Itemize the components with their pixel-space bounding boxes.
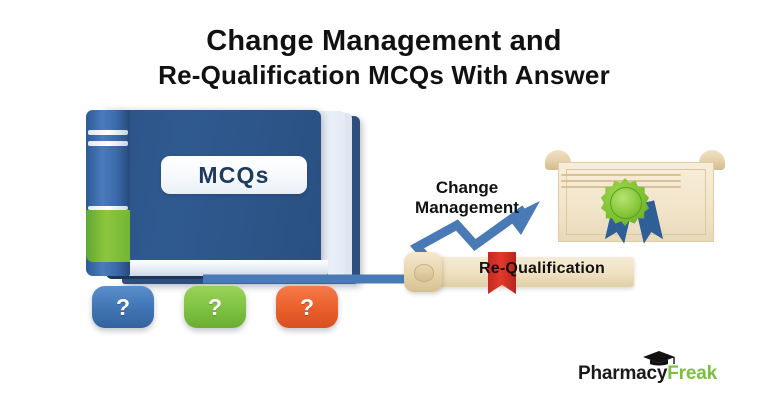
re-qualification-label: Re-Qualification (448, 260, 636, 278)
title-line-1: Change Management and (0, 26, 768, 57)
book-cover-label-text: MCQs (198, 162, 269, 189)
certificate-text-line (561, 174, 681, 176)
pharmacy-freak-logo[interactable]: Pharmacy Freak (578, 362, 717, 386)
question-button-orange[interactable]: ? (276, 286, 338, 328)
spine-band-top (88, 130, 128, 135)
poster-canvas: Change Management and Re-Qualification M… (0, 0, 768, 402)
question-button-green[interactable]: ? (184, 286, 246, 328)
title-line-2: Re-Qualification MCQs With Answer (0, 61, 768, 90)
change-management-line-2: Management (392, 198, 542, 218)
page-title: Change Management and Re-Qualification M… (0, 26, 768, 90)
question-mark-buttons: ? ? ? (92, 286, 342, 332)
graduation-cap-icon (642, 350, 676, 366)
certificate-illustration (545, 150, 725, 252)
change-management-label: Change Management (392, 178, 542, 218)
question-mark-glyph: ? (116, 294, 130, 321)
scroll-rolled-end (404, 252, 442, 292)
re-qualification-scroll: Re-Qualification (404, 252, 638, 294)
certificate-seal-icon (601, 178, 649, 226)
book-cover-label: MCQs (161, 156, 307, 194)
question-mark-glyph: ? (300, 294, 314, 321)
book-spine (86, 110, 130, 276)
question-button-blue[interactable]: ? (92, 286, 154, 328)
question-mark-glyph: ? (208, 294, 222, 321)
seal-inner-ring (610, 187, 642, 219)
scroll-roll-hole (414, 264, 434, 282)
spine-band-second (88, 141, 128, 146)
logo-text-freak: Freak (667, 363, 717, 385)
change-management-line-1: Change (392, 178, 542, 198)
spine-green-block (86, 210, 130, 262)
logo-text-pharmacy: Pharmacy (578, 363, 667, 385)
